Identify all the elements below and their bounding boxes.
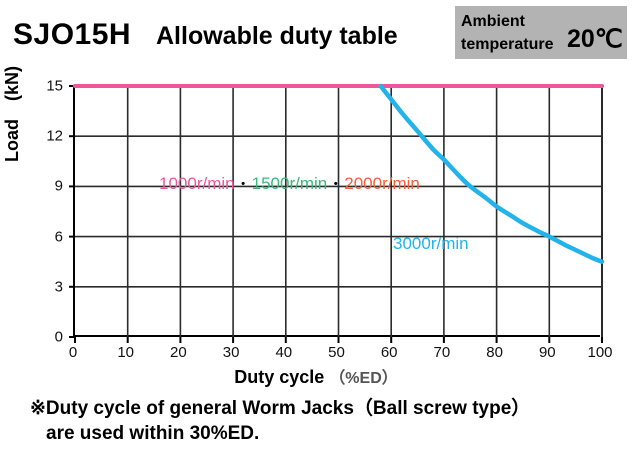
x-tick-80: 80	[486, 344, 503, 361]
x-tick-20: 20	[170, 344, 187, 361]
page-title: Allowable duty table	[156, 22, 398, 51]
legend-line-speeds: 1000r/min・1500r/min・2000r/min	[159, 174, 420, 195]
x-axis-tick-labels: 0102030405060708090100	[73, 344, 632, 366]
x-tick-90: 90	[539, 344, 556, 361]
x-tick-30: 30	[223, 344, 240, 361]
plot-area: 1000r/min・1500r/min・2000r/min 3000r/min	[73, 86, 600, 337]
y-tick-3: 3	[55, 278, 63, 295]
x-tick-100: 100	[587, 344, 612, 361]
y-axis-tick-labels: 03691215	[0, 72, 73, 337]
ambient-label-line2: temperature	[461, 33, 573, 56]
y-tick-0: 0	[55, 329, 63, 346]
ambient-temperature-label: Ambient temperature	[461, 10, 573, 56]
y-tick-9: 9	[55, 178, 63, 195]
y-tick-6: 6	[55, 228, 63, 245]
footnote: ※Duty cycle of general Worm Jacks（Ball s…	[30, 396, 630, 446]
legend-entry-1000: 1000r/min	[159, 174, 235, 193]
ambient-temperature-value: 20℃	[567, 24, 623, 54]
y-tick-15: 15	[46, 78, 63, 95]
x-axis-title: Duty cycle （%ED）	[0, 364, 632, 388]
ambient-temperature-badge: Ambient temperature 20℃	[455, 6, 627, 59]
x-axis-title-text: Duty cycle	[234, 367, 324, 387]
y-tick-12: 12	[46, 128, 63, 145]
legend-entry-2000: 2000r/min	[344, 174, 420, 193]
ambient-label-line1: Ambient	[461, 10, 573, 33]
legend-entry-3000: 3000r/min	[393, 234, 469, 254]
x-tick-70: 70	[434, 344, 451, 361]
x-tick-40: 40	[275, 344, 292, 361]
legend-entry-1500: 1500r/min	[252, 174, 328, 193]
chart-header: SJO15H Allowable duty table Ambient temp…	[0, 0, 632, 72]
x-axis-unit: （%ED）	[329, 370, 397, 387]
legend-separator-1: ・	[235, 176, 252, 193]
plot-svg	[75, 86, 602, 337]
footnote-line2: are used within 30%ED.	[30, 421, 630, 446]
legend-separator-2: ・	[327, 176, 344, 193]
footnote-line1: ※Duty cycle of general Worm Jacks（Ball s…	[30, 398, 530, 419]
chart-page: SJO15H Allowable duty table Ambient temp…	[0, 0, 632, 460]
model-number: SJO15H	[13, 18, 131, 52]
x-tick-50: 50	[328, 344, 345, 361]
x-tick-60: 60	[381, 344, 398, 361]
x-tick-0: 0	[69, 344, 77, 361]
chart-area: Load (kN) 03691215 1000r/min・1500r/min・2…	[0, 72, 632, 390]
x-tick-10: 10	[117, 344, 134, 361]
